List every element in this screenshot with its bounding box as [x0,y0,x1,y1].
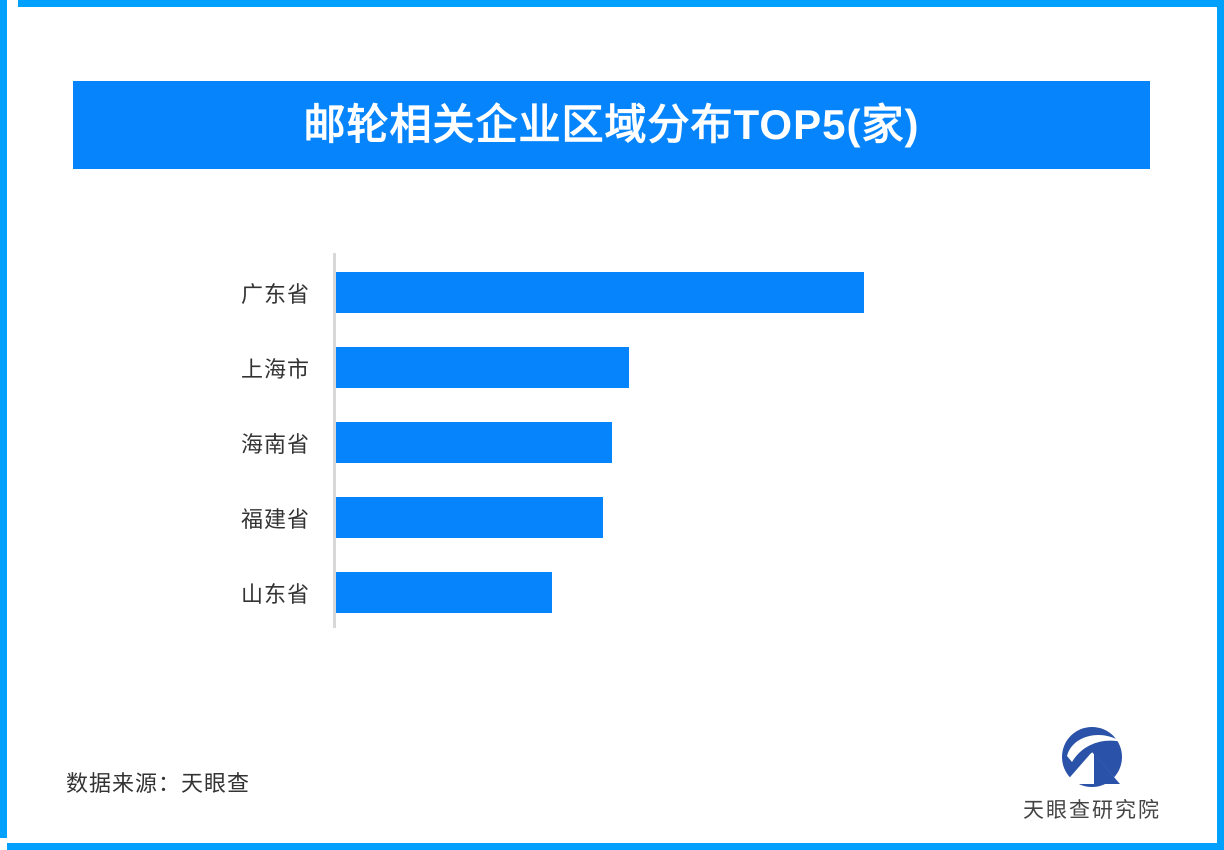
bar-series: 广东省上海市海南省福建省山东省 [0,240,1224,640]
bar-category-label: 广东省 [241,277,310,309]
bar-category-label: 海南省 [241,427,310,459]
bar-row: 海南省 [0,422,1224,463]
bar-category-label: 上海市 [241,352,310,384]
bar-chart: 广东省上海市海南省福建省山东省 [0,240,1224,640]
tianyancha-arch-logo-icon [1054,726,1130,790]
bar-row: 广东省 [0,272,1224,313]
bar-fill [336,347,629,388]
frame-strip-top [18,0,1224,7]
data-source-note: 数据来源：天眼查 [66,766,250,798]
bar-row: 福建省 [0,497,1224,538]
bar-row: 山东省 [0,572,1224,613]
title-banner: 邮轮相关企业区域分布TOP5(家) [73,81,1150,169]
bar-fill [336,572,552,613]
page-title: 邮轮相关企业区域分布TOP5(家) [304,104,920,146]
bar-fill [336,497,603,538]
bar-category-label: 福建省 [241,502,310,534]
bar-fill [336,272,864,313]
brand-name-label: 天眼查研究院 [1023,794,1161,824]
frame-strip-bottom [7,843,1224,850]
bar-category-label: 山东省 [241,577,310,609]
brand-logo: 天眼查研究院 [1012,726,1172,830]
bar-row: 上海市 [0,347,1224,388]
infographic-poster: 邮轮相关企业区域分布TOP5(家) 广东省上海市海南省福建省山东省 数据来源：天… [0,0,1224,850]
bar-fill [336,422,612,463]
